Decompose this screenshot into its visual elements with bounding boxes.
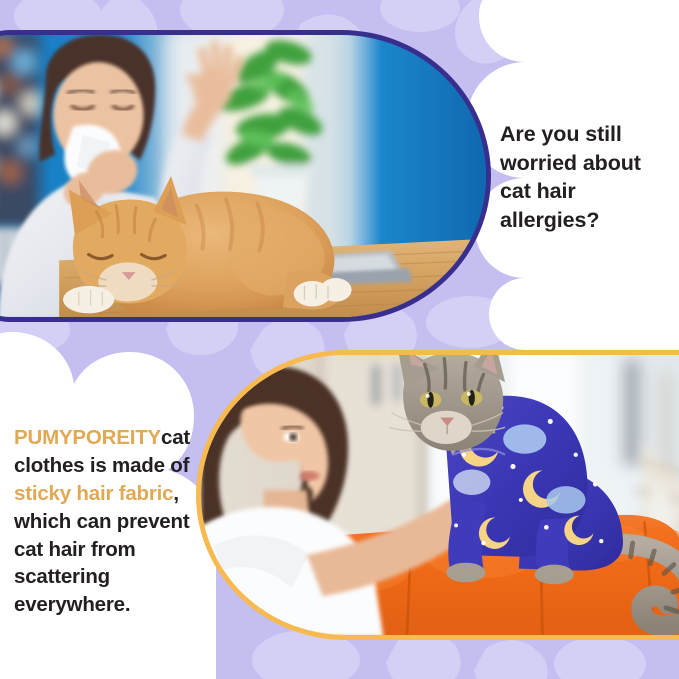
photo-frame-cat-clothes <box>196 350 679 640</box>
headline-line-3: cat hair <box>500 177 674 206</box>
headline-line-2: worried about <box>500 149 674 178</box>
photo-woman-sneezing-with-cat <box>0 35 486 317</box>
headline-text: Are you still worried about cat hair all… <box>500 120 674 234</box>
copy-highlight: sticky hair fabric <box>14 482 173 505</box>
body-copy-text: PUMYPOREITYcat clothes is made of sticky… <box>14 424 212 619</box>
headline-line-4: allergies? <box>500 206 674 235</box>
photo-frame-allergy <box>0 30 491 322</box>
brand-name: PUMYPOREITY <box>14 426 161 449</box>
photo-woman-dressing-cat <box>201 355 679 635</box>
headline-line-1: Are you still <box>500 120 674 149</box>
infographic-canvas: Are you still worried about cat hair all… <box>0 0 679 679</box>
